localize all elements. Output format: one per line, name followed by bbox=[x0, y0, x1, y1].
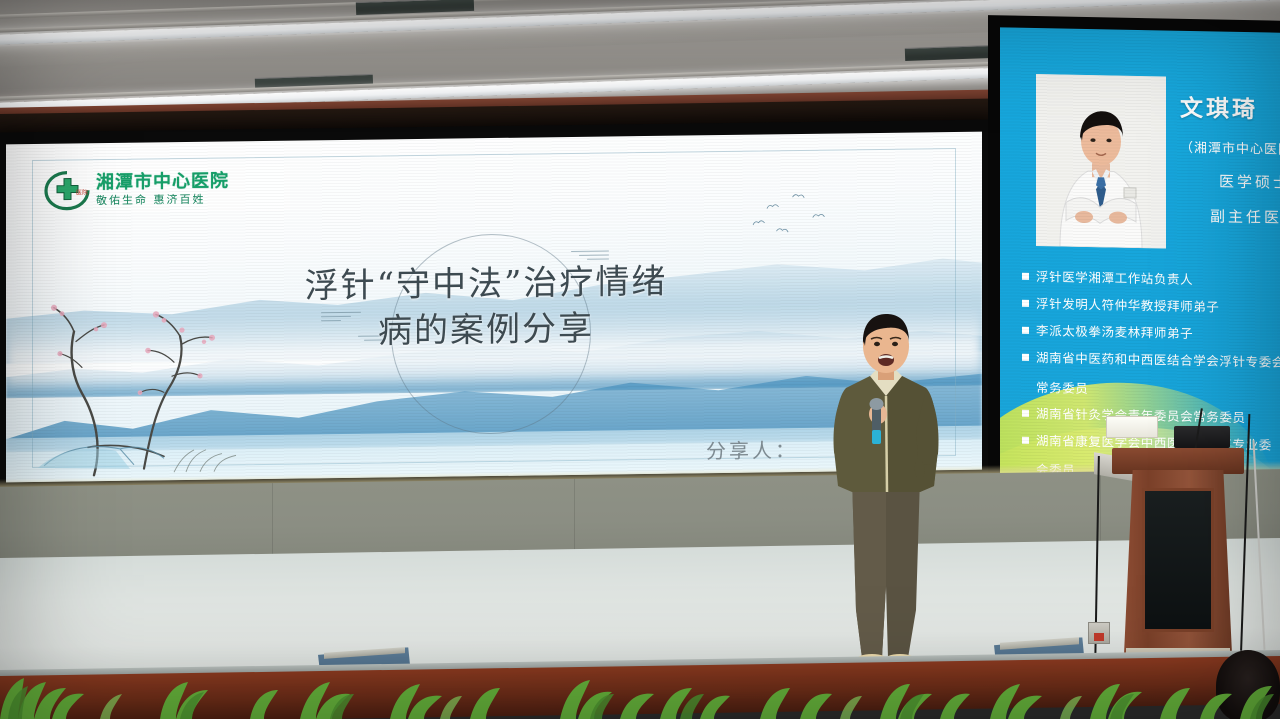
presenter-person bbox=[816, 310, 956, 678]
hospital-logo: 医院 湘潭市中心医院 敬佑生命 惠济百姓 bbox=[40, 165, 290, 214]
socket-indicator bbox=[1094, 633, 1104, 641]
lecture-hall-scene: 医院 湘潭市中心医院 敬佑生命 惠济百姓 浮针“守中法”治疗情绪 病的案例分享 … bbox=[0, 0, 1280, 719]
bird-icon bbox=[776, 226, 790, 234]
credential-continuation: 常务委员 bbox=[1036, 377, 1280, 401]
speaker-portrait bbox=[1036, 74, 1166, 248]
square-bullet-icon bbox=[1022, 354, 1029, 361]
podium-glass-panel bbox=[1142, 488, 1214, 632]
podium-name-card bbox=[1106, 416, 1158, 438]
credential-text: 湖南省中医药和中西医结合学会浮针专委会 bbox=[1036, 349, 1280, 372]
wall-socket-box bbox=[1088, 622, 1110, 644]
square-bullet-icon bbox=[1022, 273, 1029, 280]
plum-blossom-branch bbox=[24, 295, 284, 478]
logo-sub-text: 敬佑生命 惠济百姓 bbox=[96, 193, 229, 206]
bird-icon bbox=[812, 211, 825, 219]
speaker-name: 文琪琦 bbox=[1180, 89, 1280, 127]
slide-title-line2: 病的案例分享 bbox=[246, 305, 726, 357]
speaker-degree: 医学硕士 bbox=[1180, 170, 1280, 194]
credential-item: 李派太极拳汤麦林拜师弟子 bbox=[1022, 322, 1280, 346]
wooden-podium bbox=[1112, 430, 1244, 680]
slide-title: 浮针“守中法”治疗情绪 病的案例分享 bbox=[246, 259, 726, 356]
credential-text: 浮针发明人符仲华教授拜师弟子 bbox=[1036, 295, 1219, 317]
credential-item: 湖南省中医药和中西医结合学会浮针专委会 bbox=[1022, 349, 1280, 373]
hospital-cross-logo-icon: 医院 bbox=[44, 169, 90, 212]
slide-title-line1: 浮针“守中法”治疗情绪 bbox=[305, 262, 668, 307]
laptop-on-podium bbox=[1174, 426, 1230, 448]
square-bullet-icon bbox=[1022, 300, 1029, 307]
svg-text:医院: 医院 bbox=[76, 188, 88, 196]
presenter-label: 分享人： bbox=[706, 434, 798, 464]
speaker-rank: 副主任医师 bbox=[1180, 205, 1280, 229]
square-bullet-icon bbox=[1022, 409, 1029, 416]
logo-main-text: 湘潭市中心医院 bbox=[96, 173, 229, 193]
speaker-name-block: 文琪琦 （湘潭市中心医院） 医学硕士 副主任医师 bbox=[1180, 89, 1280, 230]
credential-text: 李派太极拳汤麦林拜师弟子 bbox=[1036, 322, 1193, 343]
square-bullet-icon bbox=[1022, 327, 1029, 334]
speaker-affiliation: （湘潭市中心医院） bbox=[1180, 137, 1280, 160]
credential-text: 浮针医学湘潭工作站负责人 bbox=[1036, 268, 1193, 289]
decorative-plants bbox=[0, 648, 1280, 719]
bird-icon bbox=[792, 192, 805, 200]
credential-item: 浮针医学湘潭工作站负责人 bbox=[1022, 268, 1280, 292]
credential-item: 浮针发明人符仲华教授拜师弟子 bbox=[1022, 295, 1280, 319]
square-bullet-icon bbox=[1022, 436, 1029, 443]
